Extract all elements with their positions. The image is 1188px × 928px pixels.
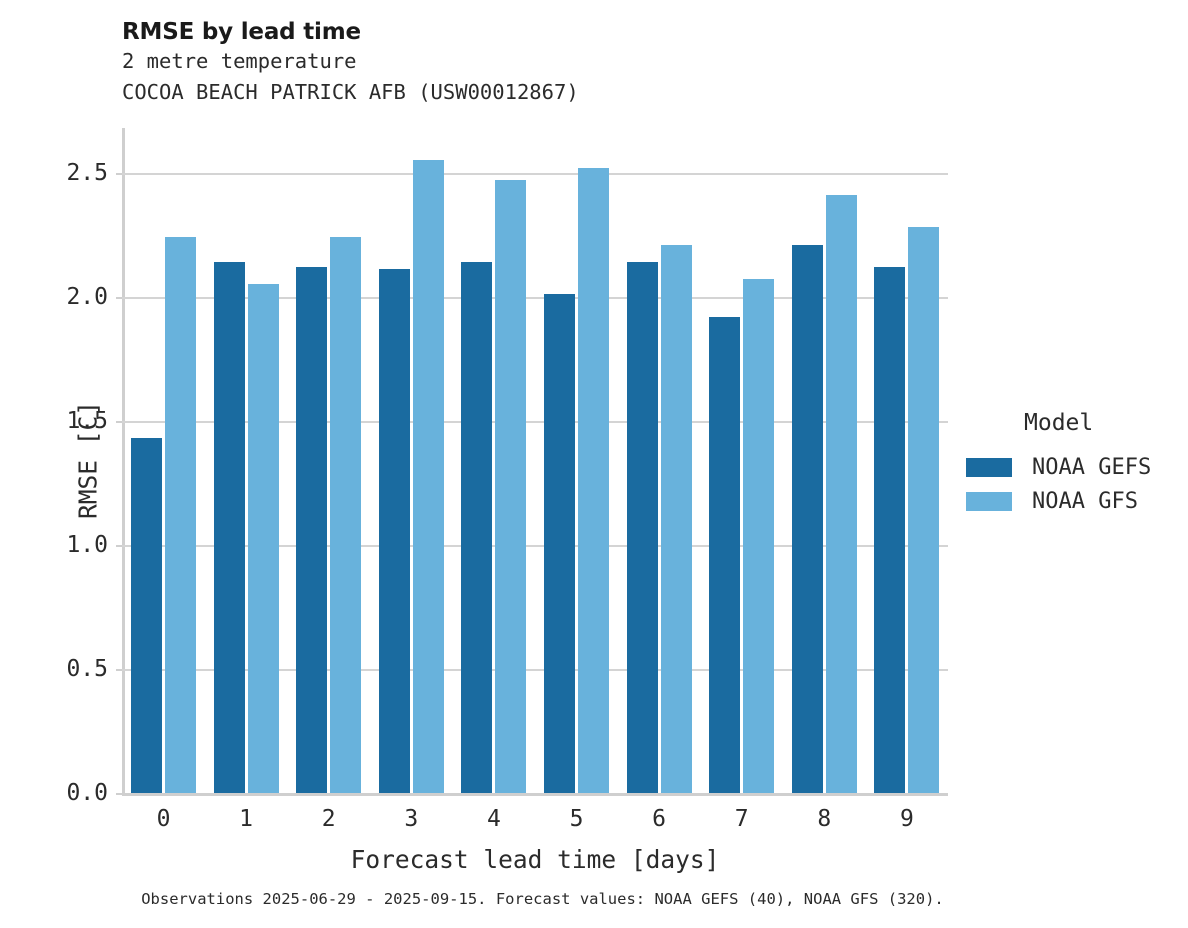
title-block: RMSE by lead time 2 metre temperature CO… [122,18,922,108]
y-axis-tick-mark [116,297,122,299]
legend-swatch-icon [966,492,1012,511]
x-axis-tick-label: 1 [239,806,253,832]
bar [165,237,196,793]
bar [874,267,905,793]
legend-item[interactable]: NOAA GEFS [966,450,1151,484]
gridline [122,545,948,547]
plot-area: RMSE [C] 0.00.51.01.52.02.5 [122,128,948,793]
bar [379,269,410,793]
gridline [122,421,948,423]
legend-swatch-icon [966,458,1012,477]
page-title: RMSE by lead time [122,18,922,46]
x-axis-tick-label: 6 [652,806,666,832]
y-axis-tick-label: 0.5 [66,656,108,682]
y-axis-tick-mark [116,545,122,547]
x-axis-tick-label: 8 [817,806,831,832]
bar [661,245,692,793]
bar [743,279,774,793]
legend-item[interactable]: NOAA GFS [966,484,1151,518]
gridline [122,173,948,175]
chart-subtitle-station: COCOA BEACH PATRICK AFB (USW00012867) [122,77,922,108]
bar [544,294,575,793]
bar [627,262,658,793]
legend-item-label: NOAA GEFS [1032,455,1151,480]
y-axis-tick-label: 2.0 [66,284,108,310]
gridline [122,297,948,299]
y-axis-tick-label: 0.0 [66,780,108,806]
bar [296,267,327,793]
bar [578,168,609,793]
legend: Model NOAA GEFSNOAA GFS [966,410,1151,518]
bar [214,262,245,793]
bar [792,245,823,793]
legend-title: Model [1024,410,1151,436]
x-axis-tick-label: 3 [404,806,418,832]
bar [413,160,444,793]
bar [248,284,279,793]
x-axis-tick-label: 2 [322,806,336,832]
x-axis-spine [122,793,948,796]
bar [131,438,162,793]
y-axis-tick-label: 2.5 [66,160,108,186]
chart-subtitle-variable: 2 metre temperature [122,46,922,77]
bar [709,317,740,793]
bar [908,227,939,793]
x-axis-tick-label: 0 [157,806,171,832]
x-axis-tick-label: 9 [900,806,914,832]
y-axis-tick-mark [116,793,122,795]
figure-caption: Observations 2025-06-29 - 2025-09-15. Fo… [0,890,1085,908]
y-axis-tick-mark [116,669,122,671]
bar [330,237,361,793]
y-axis-tick-label: 1.5 [66,408,108,434]
gridline [122,669,948,671]
bar [495,180,526,793]
x-axis-title: Forecast lead time [days] [122,845,948,874]
x-axis-tick-label: 4 [487,806,501,832]
bar [826,195,857,793]
y-axis-tick-mark [116,421,122,423]
bar [461,262,492,793]
legend-entries: NOAA GEFSNOAA GFS [966,450,1151,518]
legend-item-label: NOAA GFS [1032,489,1138,514]
y-axis-tick-label: 1.0 [66,532,108,558]
x-axis-tick-label: 7 [735,806,749,832]
x-axis-tick-label: 5 [570,806,584,832]
y-axis-tick-mark [116,173,122,175]
